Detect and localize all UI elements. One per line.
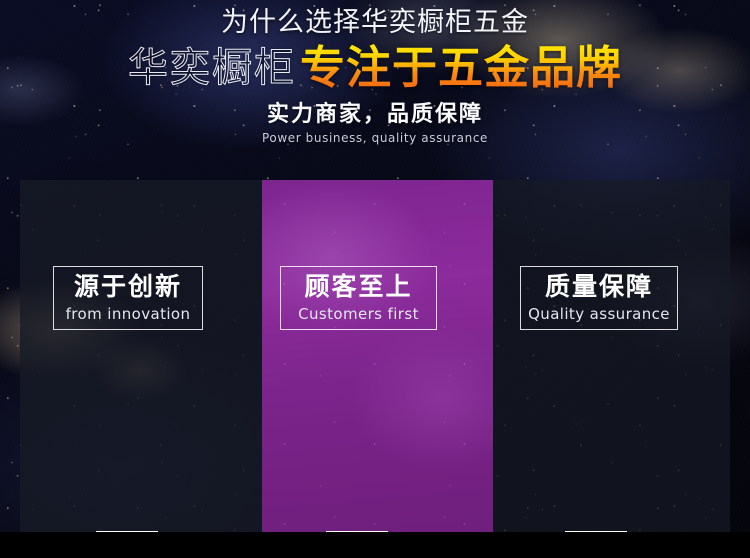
- feature-panel-quality: 质量保障 Quality assurance 专注于每一件产品，专心做好每一件事…: [493, 180, 730, 532]
- feature-divider-rule: [565, 531, 627, 532]
- feature-heading-en: Customers first: [298, 304, 419, 324]
- headline-tagline-en: Power business, quality assurance: [0, 130, 750, 146]
- feature-heading-box-quality: 质量保障 Quality assurance: [520, 266, 678, 330]
- feature-panels: 源于创新 from innovation 设计新颖，应用广泛，从原材料到成品，专…: [20, 180, 730, 532]
- headline-block: 为什么选择华奕橱柜五金 华奕橱柜 专注于五金品牌 实力商家，品质保障 Power…: [0, 0, 750, 146]
- feature-divider-rule: [96, 531, 158, 532]
- feature-panel-customers: 顾客至上 Customers first 遵从客户的意愿，以客户的利益优先权，让…: [262, 180, 493, 532]
- feature-heading-cn: 源于创新: [74, 272, 182, 302]
- headline-tagline-cn: 实力商家，品质保障: [0, 101, 750, 129]
- feature-heading-en: from innovation: [66, 304, 191, 324]
- feature-heading-box-customers: 顾客至上 Customers first: [280, 266, 437, 330]
- headline-brand-name: 华奕橱柜: [128, 45, 296, 91]
- feature-heading-cn: 顾客至上: [304, 272, 412, 302]
- feature-heading-box-innovation: 源于创新 from innovation: [53, 266, 203, 330]
- feature-panel-innovation: 源于创新 from innovation 设计新颖，应用广泛，从原材料到成品，专…: [20, 180, 262, 532]
- promo-banner: 为什么选择华奕橱柜五金 华奕橱柜 专注于五金品牌 实力商家，品质保障 Power…: [0, 0, 750, 558]
- feature-heading-en: Quality assurance: [528, 304, 670, 324]
- headline-highlight-phrase: 专注于五金品牌: [296, 44, 622, 92]
- headline-primary: 为什么选择华奕橱柜五金: [0, 6, 750, 40]
- feature-heading-cn: 质量保障: [545, 272, 653, 302]
- headline-secondary: 华奕橱柜 专注于五金品牌: [0, 42, 750, 94]
- feature-divider-rule: [326, 531, 388, 532]
- bottom-black-bar: [0, 532, 750, 558]
